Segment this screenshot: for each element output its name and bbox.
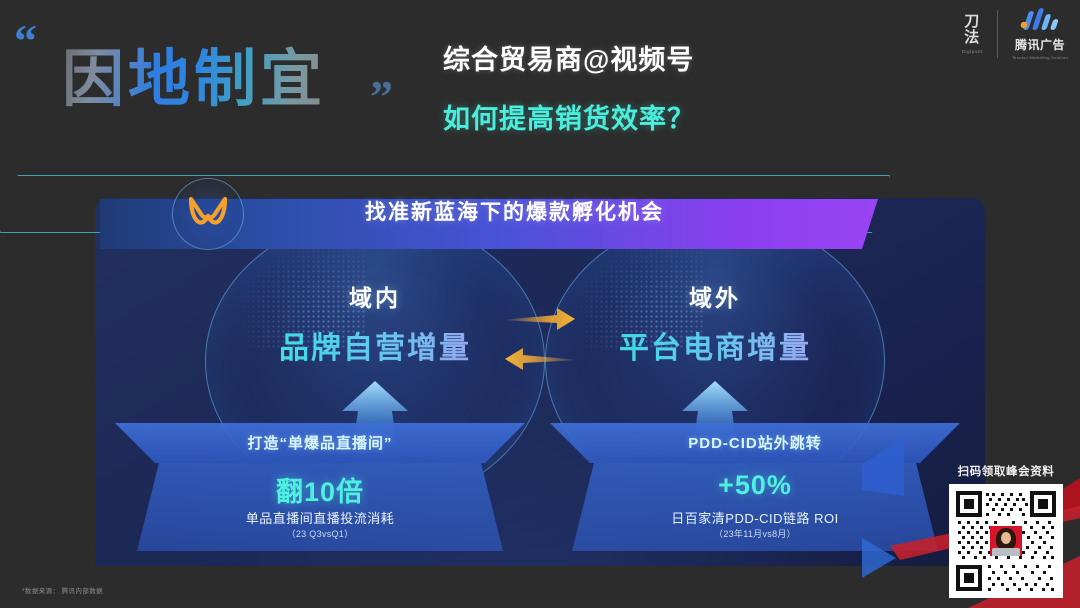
quote-close-icon: ” xyxy=(370,74,393,120)
wechat-channels-icon xyxy=(172,178,244,250)
page-subtitle: 如何提高销货效率？ xyxy=(443,97,695,136)
growth-arrow-icon xyxy=(630,377,800,467)
right-funnel-metric: +50% xyxy=(550,470,960,501)
domain-external-circle: 域外 平台电商增量 xyxy=(545,216,885,506)
left-funnel-metric-desc: 单品直播间直播投流消耗 xyxy=(115,508,525,527)
dot-texture xyxy=(574,239,704,349)
logo-group: 刀 法 Digipont 腾讯广告 Tencent Marketing Solu… xyxy=(962,8,1068,60)
avatar-laptop xyxy=(992,548,1020,556)
tencent-logo-cn: 腾讯广告 xyxy=(1012,36,1068,53)
domain-internal-value: 品牌自营增量 xyxy=(206,323,544,367)
dot-texture xyxy=(236,239,366,349)
qr-block[interactable]: 扫码领取峰会资料 xyxy=(946,463,1066,598)
exchange-arrows xyxy=(495,303,585,383)
banner-title: 找准新蓝海下的爆款孵化机会 xyxy=(365,196,664,226)
domain-internal-label: 域内 xyxy=(206,279,544,313)
left-funnel-metric-note: （23 Q3vsQ1） xyxy=(115,527,525,540)
page-title: 综合贸易商@视频号 xyxy=(443,38,695,77)
daofa-char-1: 刀 xyxy=(962,14,983,30)
qr-label: 扫码领取峰会资料 xyxy=(946,463,1066,479)
page-headline: 因地制宜 xyxy=(62,28,326,118)
daofa-char-2: 法 xyxy=(962,30,983,46)
domain-external-value: 平台电商增量 xyxy=(546,323,884,367)
logo-divider xyxy=(997,10,998,58)
left-funnel-metric: 翻10倍 xyxy=(115,470,525,509)
slide-root: “ 因地制宜 ” 综合贸易商@视频号 如何提高销货效率？ 刀 法 Digipon… xyxy=(0,0,1080,608)
quote-open-icon: “ xyxy=(14,18,37,64)
left-funnel-strategy: 打造“单爆品直播间” xyxy=(115,432,525,453)
arrow-left-icon xyxy=(505,348,579,370)
right-funnel-metric-desc: 日百家清PDD-CID链路 ROI xyxy=(550,508,960,527)
tencent-mark-icon xyxy=(1014,8,1066,32)
footnote-data-source: *数据来源： 腾讯内部数据 xyxy=(22,585,103,595)
title-block: 综合贸易商@视频号 如何提高销货效率？ xyxy=(443,38,695,136)
domain-external-label: 域外 xyxy=(546,279,884,313)
qr-code-icon[interactable] xyxy=(949,484,1063,598)
right-funnel: PDD-CID站外跳转 +50% 日百家清PDD-CID链路 ROI （23年1… xyxy=(550,423,960,551)
left-funnel: 打造“单爆品直播间” 翻10倍 单品直播间直播投流消耗 （23 Q3vsQ1） xyxy=(115,423,525,551)
tencent-logo-en: Tencent Marketing Solution xyxy=(1012,55,1068,60)
tencent-ads-logo: 腾讯广告 Tencent Marketing Solution xyxy=(1012,8,1068,60)
right-funnel-strategy: PDD-CID站外跳转 xyxy=(550,432,960,453)
domain-internal-circle: 域内 品牌自营增量 xyxy=(205,216,545,506)
avatar-face xyxy=(1001,532,1011,544)
daofa-logo-en: Digipont xyxy=(962,49,983,54)
growth-arrow-icon xyxy=(290,377,460,467)
main-content-panel: 域内 品牌自营增量 域外 平台电商增量 xyxy=(95,198,985,566)
avatar-icon xyxy=(990,526,1022,556)
daofa-logo: 刀 法 Digipont xyxy=(962,14,983,54)
right-funnel-metric-note: （23年11月vs8月） xyxy=(550,527,960,540)
arrow-right-icon xyxy=(501,308,575,330)
